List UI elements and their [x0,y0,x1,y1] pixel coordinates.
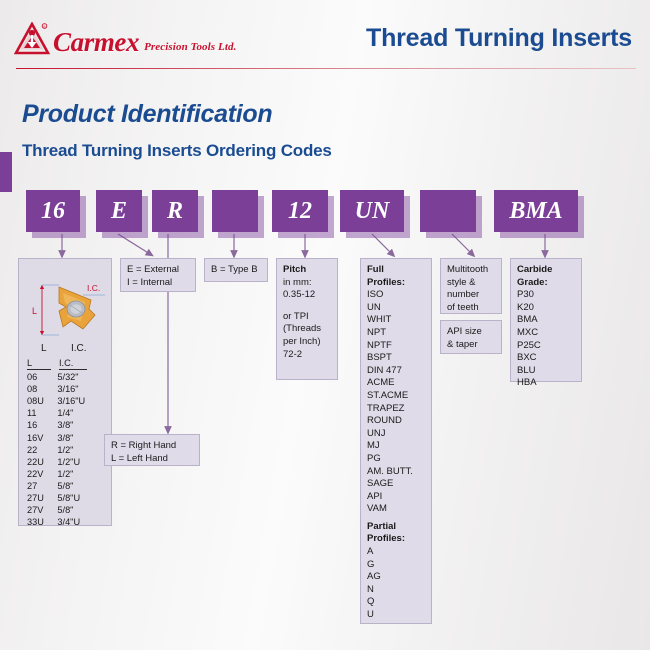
cell-l: 22 [27,444,57,456]
cell-l: 22V [27,468,57,480]
insert-drawing: L I.C. L I.C. [19,259,111,355]
pitch-tpi-note-1: (Threads [283,323,331,336]
profile-item: PG [367,453,425,466]
api-size-panel: API size & taper [440,320,502,354]
profile-item: UN [367,302,425,315]
full-profiles-title-1: Full [367,264,425,277]
partial-profiles-title-1: Partial [367,521,425,534]
partial-profile-item: U [367,609,425,622]
right-hand-line: R = Right Hand [111,440,193,453]
thread-profiles-panel: Full Profiles: ISO UN WHIT NPT NPTF BSPT… [360,258,432,624]
type-b-panel: B = Type B [204,258,268,282]
grade-title-2: Grade: [517,277,575,290]
cell-ic: 5/8" [57,480,103,492]
cell-ic: 5/8"U [57,492,103,504]
cell-ic: 5/8" [57,504,103,516]
grade-item: P30 [517,289,575,302]
table-row: 08U3/16"U [27,395,103,407]
cell-l: 27U [27,492,57,504]
profile-item: API [367,491,425,504]
product-identification-page: R Carmex Precision Tools Ltd. Thread Tur… [0,0,650,650]
cell-ic: 3/8" [57,419,103,431]
multitooth-line-4: of teeth [447,302,495,315]
profile-item: AM. BUTT. [367,466,425,479]
cell-ic: 1/2" [57,444,103,456]
multitooth-panel: Multitooth style & number of teeth [440,258,502,314]
pitch-tpi-label: or TPI [283,311,331,324]
cell-l: 27V [27,504,57,516]
internal-line: I = Internal [127,277,189,290]
partial-profiles-title-2: Profiles: [367,533,425,546]
code-box-profile[interactable]: UN [340,190,404,232]
svg-text:L: L [41,343,47,354]
profile-item: ROUND [367,415,425,428]
cell-l: 16V [27,432,57,444]
partial-profile-item: Q [367,596,425,609]
col-header-ic: I.C. [59,357,87,370]
cell-l: 06 [27,371,57,383]
table-row: 275/8" [27,480,103,492]
carbide-grade-panel: Carbide Grade: P30 K20 BMA MXC P25C BXC … [510,258,582,382]
grade-item: P25C [517,340,575,353]
code-box-type[interactable] [212,190,258,232]
table-row: 221/2" [27,444,103,456]
partial-profile-item: N [367,584,425,597]
pitch-panel: Pitch in mm: 0.35-12 or TPI (Threads per… [276,258,338,380]
api-line-2: & taper [447,339,495,352]
multitooth-line-3: number [447,289,495,302]
code-box-multitooth[interactable] [420,190,476,232]
table-row: 065/32" [27,371,103,383]
insert-dimension-panel: L I.C. L I.C. L I.C. 065/32" 083/16 [18,258,112,526]
code-box-hand[interactable]: R [152,190,198,232]
svg-text:L: L [32,306,37,316]
cell-ic: 5/32" [57,371,103,383]
pitch-spacer [283,302,331,311]
grade-item: BMA [517,314,575,327]
cell-l: 16 [27,419,57,431]
code-box-external-internal[interactable]: E [96,190,142,232]
pitch-tpi-range: 72-2 [283,349,331,362]
full-profiles-title-2: Profiles: [367,277,425,290]
profile-item: NPT [367,327,425,340]
partial-profile-item: A [367,546,425,559]
external-internal-panel: E = External I = Internal [120,258,196,292]
cell-ic: 1/2"U [57,456,103,468]
profile-item: NPTF [367,340,425,353]
grade-item: K20 [517,302,575,315]
code-box-grade[interactable]: BMA [494,190,578,232]
table-row: 083/16" [27,383,103,395]
table-row: 16V3/8" [27,432,103,444]
profile-item: UNJ [367,428,425,441]
svg-text:I.C.: I.C. [71,343,87,354]
profile-item: ACME [367,377,425,390]
code-box-pitch[interactable]: 12 [272,190,328,232]
profile-item: MJ [367,440,425,453]
insert-size-table: L I.C. 065/32" 083/16" 08U3/16"U 111/4" … [19,355,111,528]
cell-ic: 3/8" [57,432,103,444]
grade-item: BLU [517,365,575,378]
multitooth-line-1: Multitooth [447,264,495,277]
code-box-size[interactable]: 16 [26,190,80,232]
cell-ic: 1/4" [57,407,103,419]
pitch-range: 0.35-12 [283,289,331,302]
profile-item: BSPT [367,352,425,365]
cell-ic: 3/4"U [57,516,103,528]
partial-profile-item: G [367,559,425,572]
external-line: E = External [127,264,189,277]
type-b-line: B = Type B [211,264,261,277]
pitch-tpi-note-2: per Inch) [283,336,331,349]
cell-ic: 3/16" [57,383,103,395]
cell-l: 11 [27,407,57,419]
table-row: 163/8" [27,419,103,431]
cell-l: 08U [27,395,57,407]
api-line-1: API size [447,326,495,339]
cell-ic: 1/2" [57,468,103,480]
grade-item: BXC [517,352,575,365]
profile-item: SAGE [367,478,425,491]
svg-text:I.C.: I.C. [87,283,100,293]
left-hand-line: L = Left Hand [111,453,193,466]
table-row: 22V1/2" [27,468,103,480]
profile-item: WHIT [367,314,425,327]
grade-item: MXC [517,327,575,340]
profile-item: ST.ACME [367,390,425,403]
profile-item: ISO [367,289,425,302]
table-row: 33U3/4"U [27,516,103,528]
table-row: 22U1/2"U [27,456,103,468]
grade-title-1: Carbide [517,264,575,277]
grade-item: HBA [517,377,575,390]
cell-l: 08 [27,383,57,395]
table-row: 27V5/8" [27,504,103,516]
hand-direction-panel: R = Right Hand L = Left Hand [104,434,200,466]
pitch-title: Pitch [283,264,331,277]
profile-item: DIN 477 [367,365,425,378]
profile-item: VAM [367,503,425,516]
col-header-l: L [27,357,51,370]
partial-profile-item: AG [367,571,425,584]
cell-l: 27 [27,480,57,492]
table-header-row: L I.C. [27,357,103,371]
table-row: 27U5/8"U [27,492,103,504]
multitooth-line-2: style & [447,277,495,290]
cell-ic: 3/16"U [57,395,103,407]
cell-l: 33U [27,516,57,528]
cell-l: 22U [27,456,57,468]
profile-item: TRAPEZ [367,403,425,416]
pitch-unit: in mm: [283,277,331,290]
table-row: 111/4" [27,407,103,419]
